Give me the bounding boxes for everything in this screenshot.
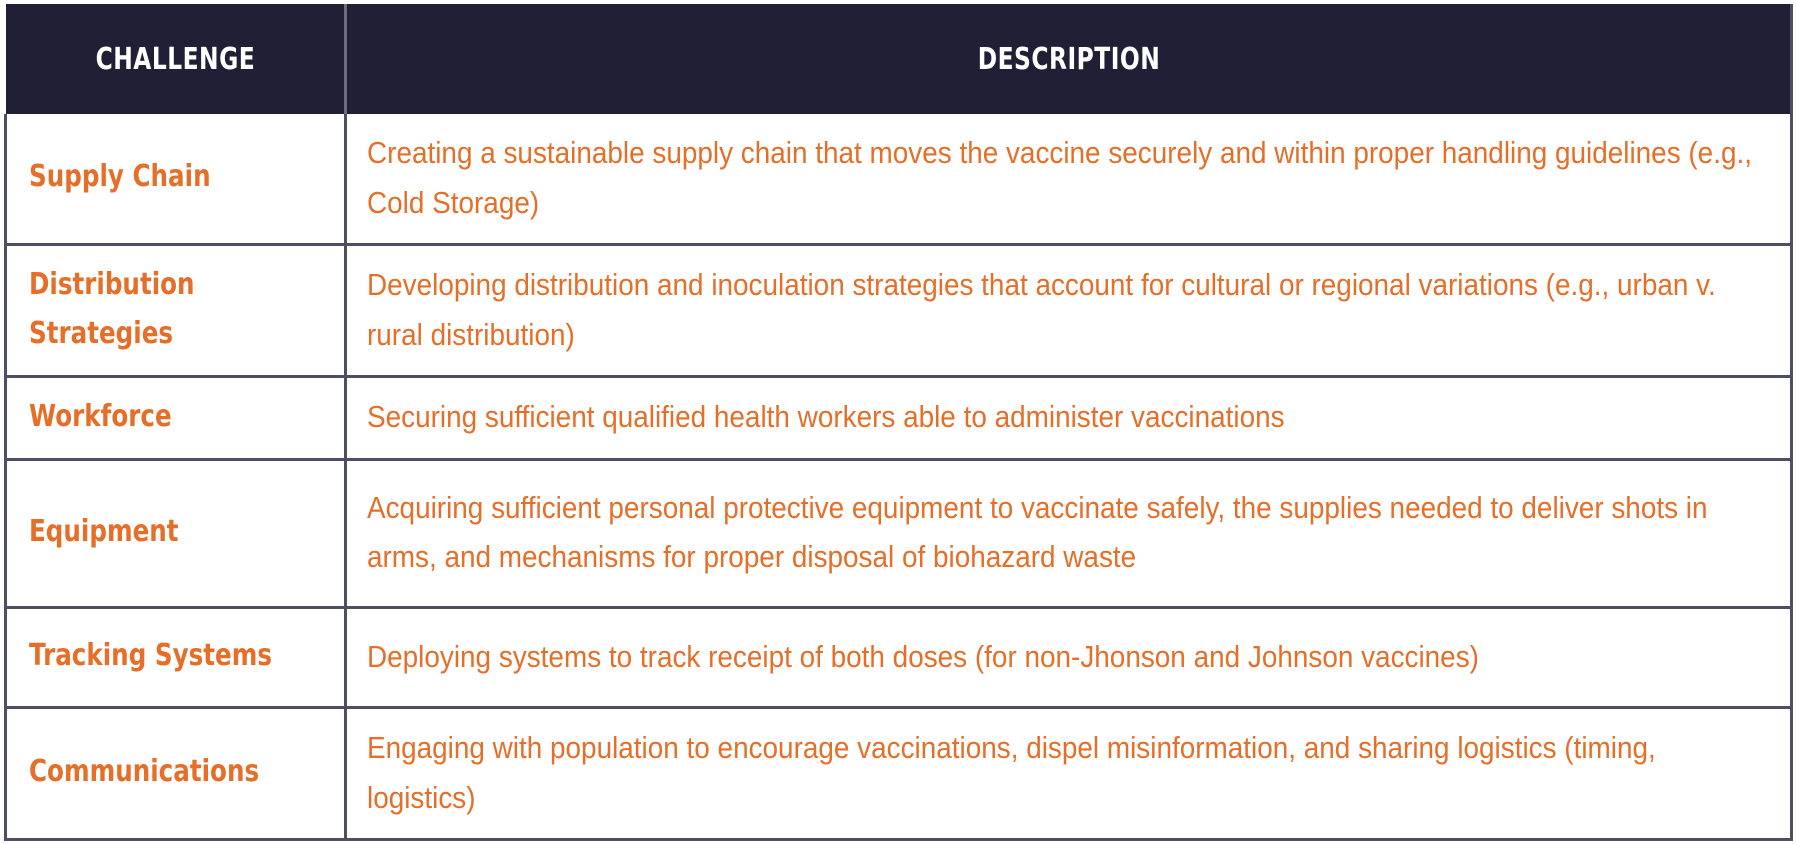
cell-challenge: Workforce: [6, 377, 346, 460]
cell-challenge: Tracking Systems: [6, 607, 346, 707]
column-header-description: DESCRIPTION: [505, 4, 1633, 114]
description-text: Securing sufficient qualified health wor…: [367, 392, 1765, 442]
table-row: Communications Engaging with population …: [6, 707, 1792, 839]
cell-description: Acquiring sufficient personal protective…: [346, 459, 1792, 607]
challenge-label: Communications: [29, 748, 259, 797]
table-header: CHALLENGE DESCRIPTION: [6, 4, 1792, 114]
challenge-label: Distribution Strategies: [29, 261, 279, 358]
cell-challenge: Communications: [6, 707, 346, 839]
table-row: Workforce Securing sufficient qualified …: [6, 377, 1792, 460]
challenge-description-table: CHALLENGE DESCRIPTION Supply Chain Creat…: [4, 4, 1793, 841]
cell-description: Securing sufficient qualified health wor…: [346, 377, 1792, 460]
challenge-label: Equipment: [29, 508, 179, 557]
challenge-label: Tracking Systems: [29, 632, 272, 681]
column-header-challenge: CHALLENGE: [43, 4, 308, 114]
description-text: Developing distribution and inoculation …: [367, 260, 1765, 359]
challenge-description-table-container: CHALLENGE DESCRIPTION Supply Chain Creat…: [0, 0, 1796, 844]
table-body: Supply Chain Creating a sustainable supp…: [6, 114, 1792, 840]
table-row: Supply Chain Creating a sustainable supp…: [6, 114, 1792, 245]
table-row: Equipment Acquiring sufficient personal …: [6, 459, 1792, 607]
table-row: Tracking Systems Deploying systems to tr…: [6, 607, 1792, 707]
challenge-label: Workforce: [29, 393, 172, 442]
table-row: Distribution Strategies Developing distr…: [6, 245, 1792, 377]
cell-challenge: Supply Chain: [6, 114, 346, 245]
cell-description: Deploying systems to track receipt of bo…: [346, 607, 1792, 707]
cell-description: Engaging with population to encourage va…: [346, 707, 1792, 839]
description-text: Creating a sustainable supply chain that…: [367, 128, 1765, 227]
cell-description: Creating a sustainable supply chain that…: [346, 114, 1792, 245]
cell-description: Developing distribution and inoculation …: [346, 245, 1792, 377]
description-text: Acquiring sufficient personal protective…: [367, 483, 1765, 582]
description-text: Engaging with population to encourage va…: [367, 723, 1765, 822]
cell-challenge: Equipment: [6, 459, 346, 607]
table-header-row: CHALLENGE DESCRIPTION: [6, 4, 1792, 114]
description-text: Deploying systems to track receipt of bo…: [367, 632, 1765, 682]
challenge-label: Supply Chain: [29, 153, 211, 202]
cell-challenge: Distribution Strategies: [6, 245, 346, 377]
